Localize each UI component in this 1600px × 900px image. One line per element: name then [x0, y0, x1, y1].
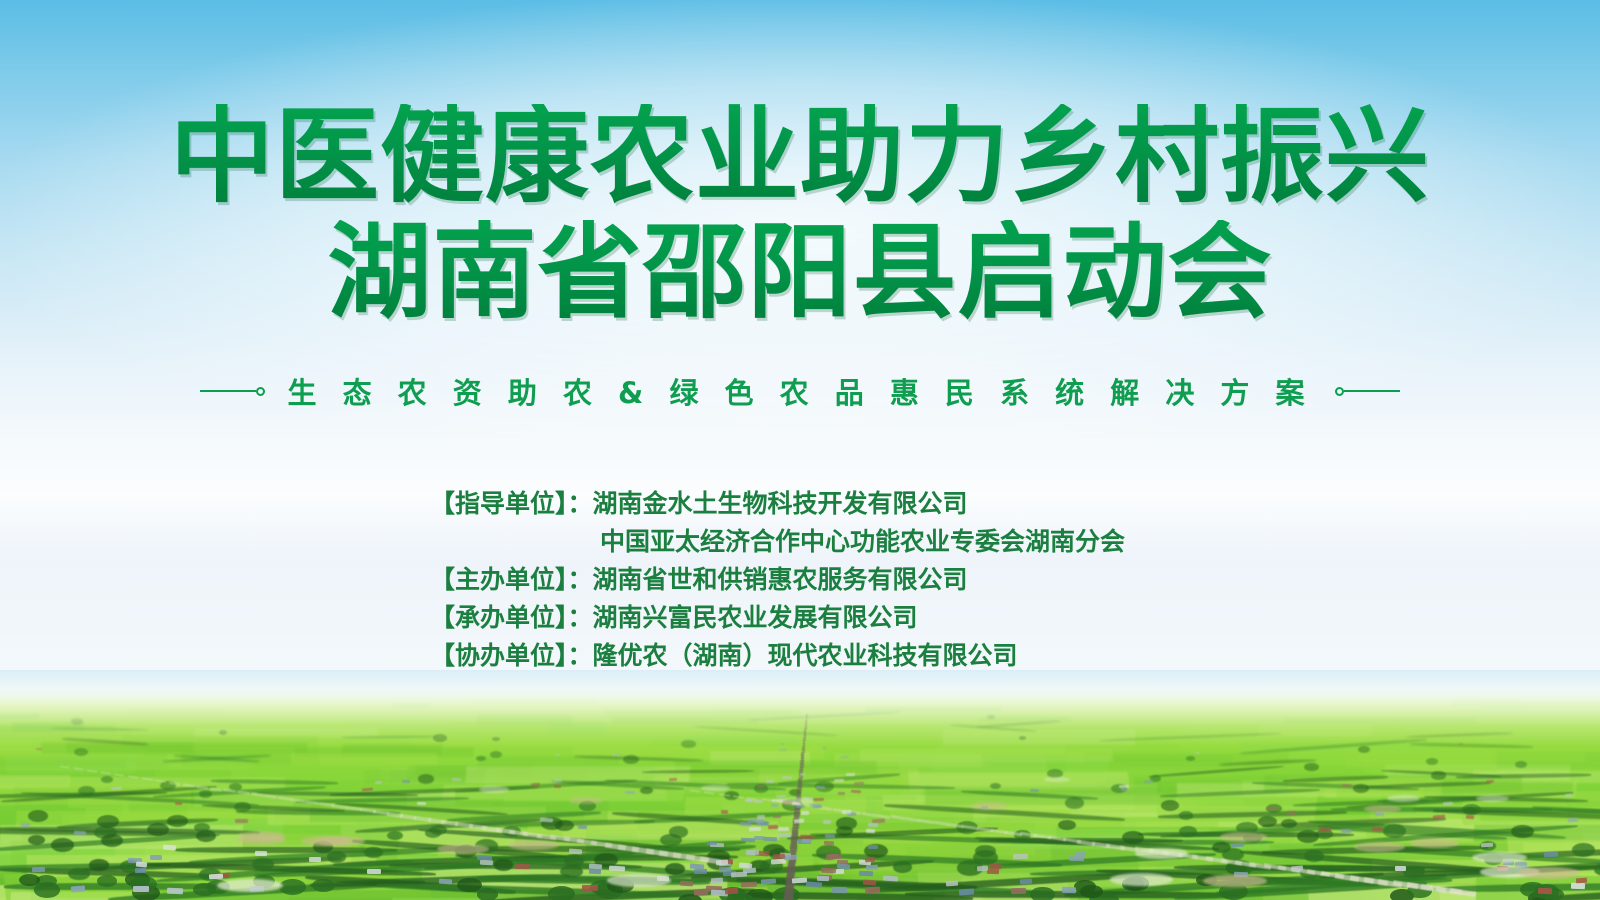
tree-grove [1297, 830, 1319, 843]
tree-grove [1186, 756, 1194, 761]
subtitle-row: 生 态 农 资 助 农 & 绿 色 农 品 惠 民 系 统 解 决 方 案 [0, 370, 1600, 412]
village-building [133, 886, 149, 892]
tree-grove [1074, 880, 1096, 893]
tree-grove [327, 851, 346, 862]
village-building [834, 779, 844, 782]
tree-grove [1304, 763, 1319, 772]
tree-grove [477, 888, 499, 900]
village-building [846, 773, 855, 776]
village-building [167, 888, 183, 894]
pond-or-bare-field [607, 874, 671, 887]
pond-or-bare-field [971, 802, 1007, 809]
village-building [479, 860, 492, 866]
village-building [778, 827, 789, 831]
village-building [1433, 814, 1445, 819]
village-building [1538, 888, 1552, 894]
pond-or-bare-field [1476, 795, 1509, 802]
credit-line-host: 【主办单位】： 湖南省世和供销惠农服务有限公司 [430, 561, 1370, 599]
pond-or-bare-field [437, 844, 489, 854]
tree-grove [836, 826, 853, 836]
headline-line-2: 湖南省邵阳县启动会 [0, 220, 1600, 324]
village-building [859, 871, 873, 877]
village-building [773, 854, 785, 860]
village-building [1195, 751, 1200, 753]
subtitle-text: 生 态 农 资 助 农 & 绿 色 农 品 惠 民 系 统 解 决 方 案 [287, 370, 1312, 412]
village-building [766, 780, 774, 783]
credit-line-guidance: 【指导单位】： 湖南金水土生物科技开发有限公司 [430, 485, 1370, 523]
village-building [669, 778, 677, 781]
village-building [209, 873, 223, 879]
credit-value: 中国亚太经济合作中心功能农业专委会湖南分会 [600, 523, 1125, 561]
village-building [842, 809, 851, 813]
tree-grove [74, 748, 88, 756]
tree-grove [234, 802, 251, 812]
village-building [1564, 794, 1571, 798]
village-building [1571, 883, 1585, 889]
tree-grove [1161, 800, 1179, 811]
pond-or-bare-field [217, 879, 283, 892]
credit-line-organizer: 【承办单位】： 湖南兴富民农业发展有限公司 [430, 599, 1370, 637]
village-building [402, 780, 410, 783]
tree-grove [1511, 825, 1533, 838]
village-building [150, 855, 162, 860]
village-building [1342, 784, 1352, 787]
village-building [741, 837, 755, 842]
field-patch [899, 755, 1046, 771]
village-building [21, 823, 30, 827]
pond-or-bare-field [1354, 842, 1405, 852]
ornament-bar [200, 390, 256, 392]
ornament-dot [1335, 387, 1344, 396]
tree-grove [476, 756, 486, 762]
village-building [452, 777, 461, 780]
tree-grove [199, 790, 213, 798]
tree-grove [418, 774, 435, 784]
village-building [707, 841, 717, 846]
pond-or-bare-field [315, 836, 364, 846]
pond-or-bare-field [238, 831, 285, 841]
village-building [792, 877, 808, 883]
village-building [539, 817, 552, 822]
main-highway-segment [784, 896, 793, 900]
pond-or-bare-field [1135, 848, 1189, 859]
pond-or-bare-field [508, 840, 559, 850]
village-building [1372, 827, 1383, 832]
tree-grove [893, 861, 913, 873]
village-building [235, 819, 248, 823]
village-building [821, 868, 836, 874]
headline-block: 中医健康农业助力乡村振兴 湖南省邵阳县启动会 [0, 104, 1600, 324]
village-building [977, 865, 988, 871]
village-building [746, 850, 759, 855]
event-banner: 中医健康农业助力乡村振兴 湖南省邵阳县启动会 生 态 农 资 助 农 & 绿 色… [0, 0, 1600, 900]
credit-label: 【主办单位】： [430, 561, 593, 599]
village-building [694, 869, 707, 874]
pond-or-bare-field [1364, 805, 1401, 813]
village-building [1121, 788, 1127, 791]
village-building [801, 838, 811, 843]
tree-grove [494, 859, 513, 870]
village-building [757, 815, 765, 819]
ornament-dot [256, 387, 265, 396]
tree-grove [665, 863, 685, 875]
tree-grove [1030, 887, 1055, 900]
pond-or-bare-field [1110, 873, 1173, 886]
village-building [1062, 887, 1076, 893]
pond-or-bare-field [1387, 795, 1420, 802]
tree-grove [1179, 826, 1197, 836]
village-building [719, 866, 731, 872]
village-building [715, 859, 727, 865]
village-building [1319, 828, 1331, 833]
tree-grove [101, 776, 113, 783]
tree-grove [1179, 811, 1194, 820]
village-building [832, 887, 847, 893]
credit-label: 【指导单位】： [430, 485, 593, 523]
village-building [578, 825, 587, 829]
village-building [1020, 878, 1032, 884]
village-building [1011, 887, 1026, 893]
credit-value: 湖南金水土生物科技开发有限公司 [593, 485, 968, 523]
village-building [959, 888, 974, 895]
village-building [801, 811, 809, 815]
village-building [1030, 789, 1040, 792]
village-building [987, 869, 999, 875]
pond-or-bare-field [1220, 832, 1268, 842]
village-building [817, 876, 829, 882]
village-building [1375, 812, 1384, 816]
village-building [1069, 856, 1084, 861]
village-building [1486, 780, 1494, 783]
village-building [255, 851, 267, 856]
field-patch [154, 763, 391, 780]
tree-grove [193, 883, 216, 896]
village-building [755, 819, 764, 823]
village-building [309, 856, 321, 861]
village-building [375, 781, 382, 784]
village-building [782, 776, 792, 779]
tree-grove [457, 878, 481, 892]
village-building [851, 789, 861, 793]
credit-label: 【承办单位】： [430, 599, 593, 637]
tree-grove [555, 820, 574, 831]
tree-grove [1383, 824, 1406, 837]
dot-line-ornament-icon [1335, 387, 1400, 396]
field-patch [5, 756, 136, 773]
village-building [555, 754, 560, 756]
tree-grove [1281, 819, 1296, 828]
tree-grove [1358, 746, 1370, 753]
tree-grove [1304, 850, 1325, 862]
aerial-farmland-photo [0, 670, 1600, 900]
pond-or-bare-field [1203, 875, 1267, 888]
village-building [868, 845, 879, 850]
tree-grove [1431, 771, 1446, 780]
village-building [568, 848, 582, 854]
credit-value: 湖南兴富民农业发展有限公司 [593, 599, 918, 637]
village-building [1480, 842, 1492, 847]
tree-grove [1572, 843, 1595, 857]
village-building [825, 834, 835, 838]
village-building [515, 864, 530, 869]
line-dot-ornament-icon [200, 387, 265, 396]
tree-grove [89, 859, 108, 870]
village-building [135, 868, 146, 874]
village-building [1466, 814, 1475, 818]
village-building [711, 877, 723, 883]
tree-grove [279, 879, 306, 895]
tree-grove [252, 858, 274, 871]
tree-grove [167, 815, 188, 827]
village-building [1341, 829, 1351, 833]
village-building [868, 822, 878, 827]
tree-grove [364, 847, 383, 858]
horizon-sky-haze [0, 670, 1600, 704]
village-building [796, 805, 805, 809]
village-building [367, 869, 381, 874]
pond-or-bare-field [479, 786, 509, 792]
tree-grove [78, 786, 95, 796]
village-building [731, 871, 747, 877]
village-building [866, 864, 879, 870]
village-building [768, 825, 778, 829]
village-building [589, 869, 602, 875]
credit-line-guidance-second: 中国亚太经济合作中心功能农业专委会湖南分会 [430, 523, 1370, 561]
village-building [32, 867, 45, 872]
credits-block: 【指导单位】： 湖南金水土生物科技开发有限公司 中国亚太经济合作中心功能农业专委… [430, 485, 1370, 675]
tree-grove [68, 868, 89, 880]
village-building [829, 854, 842, 859]
pond-or-bare-field [1472, 852, 1527, 863]
tree-grove [28, 835, 45, 845]
village-building [582, 885, 598, 891]
village-building [1288, 811, 1296, 815]
village-building [554, 785, 561, 788]
tree-grove [312, 879, 335, 892]
village-building [800, 773, 805, 776]
village-building [1119, 785, 1129, 788]
tree-grove [34, 882, 60, 898]
tree-grove [1065, 797, 1085, 809]
headline-line-1: 中医健康农业助力乡村振兴 [0, 104, 1600, 208]
tree-grove [51, 838, 74, 852]
village-building [773, 815, 781, 819]
tree-grove [669, 826, 689, 838]
village-building [1395, 866, 1406, 871]
tree-grove [1515, 761, 1527, 768]
tree-grove [548, 886, 575, 900]
village-building [779, 749, 787, 751]
credit-value: 湖南省世和供销惠农服务有限公司 [593, 561, 968, 599]
ornament-bar [1344, 390, 1400, 392]
field-patch [1359, 748, 1585, 762]
